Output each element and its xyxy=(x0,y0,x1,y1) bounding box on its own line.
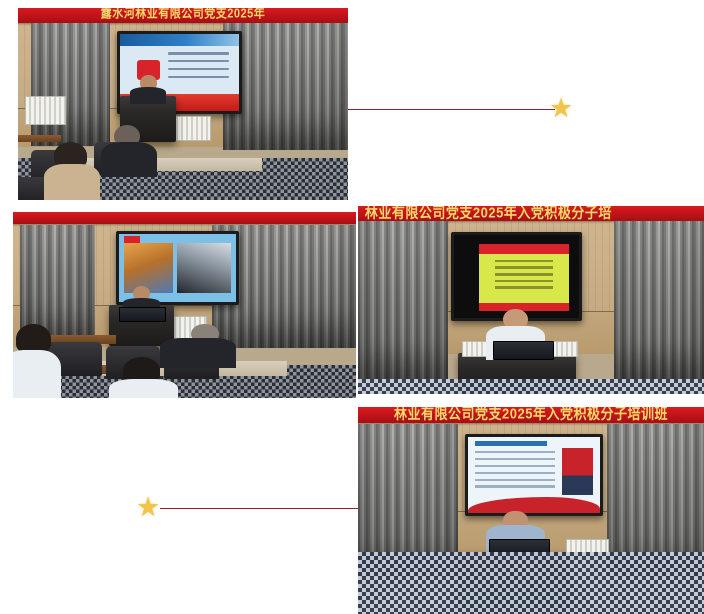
scene-middle-right: 林业有限公司党支2025年入党积极分子培 xyxy=(358,206,704,394)
attendee-3-body xyxy=(160,338,235,368)
slide-footer-bar xyxy=(479,303,569,312)
connector-line-top xyxy=(348,109,555,110)
event-banner-text: 露水河林业有限公司党支2025年 xyxy=(101,8,265,21)
photo-middle-left[interactable] xyxy=(13,212,356,398)
attendee-2-body xyxy=(109,379,178,398)
presenter-laptop xyxy=(493,341,554,360)
curtain-right xyxy=(614,221,704,379)
slide-title-bar xyxy=(475,441,547,446)
slide-text-lines xyxy=(168,52,230,89)
photo-middle-right[interactable]: 林业有限公司党支2025年入党积极分子培 xyxy=(358,206,704,394)
display-screen xyxy=(465,434,602,517)
radiator xyxy=(25,96,67,125)
slide-portrait-photo xyxy=(562,448,594,495)
curtain-left xyxy=(358,221,448,379)
connector-line-bottom xyxy=(160,508,358,509)
event-banner: 露水河林业有限公司党支2025年 xyxy=(18,8,348,23)
scene-top-left: 露水河林业有限公司党支2025年 xyxy=(18,8,348,200)
event-banner: 林业有限公司党支2025年入党积极分子培训班 xyxy=(358,407,704,423)
photo-top-left[interactable]: 露水河林业有限公司党支2025年 xyxy=(18,8,348,200)
audience-desk xyxy=(18,135,61,143)
event-banner-text: 林业有限公司党支2025年入党积极分子培训班 xyxy=(394,407,668,421)
floor-carpet xyxy=(358,552,704,614)
slide-text-lines xyxy=(495,260,552,297)
presentation-screen-bezel xyxy=(454,235,579,318)
slide-flag-image xyxy=(124,236,140,243)
scene-middle-left xyxy=(13,212,356,398)
curtain-left xyxy=(31,23,110,146)
photo-bottom-right[interactable]: 林业有限公司党支2025年入党积极分子培训班 xyxy=(358,407,704,614)
scene-bottom-right: 林业有限公司党支2025年入党积极分子培训班 xyxy=(358,407,704,614)
event-banner xyxy=(13,212,356,224)
attendee-1-body xyxy=(44,164,100,200)
photo-collage: 露水河林业有限公司党支2025年 xyxy=(0,0,704,614)
slide-header-bar xyxy=(120,34,239,46)
slide-header-bar xyxy=(479,244,569,254)
slide-machinery-photo xyxy=(177,243,231,293)
slide-text-lines xyxy=(475,451,555,494)
event-banner-text: 林业有限公司党支2025年入党积极分子培 xyxy=(365,206,612,220)
slide-group-photo xyxy=(124,243,173,293)
attendee-2-body xyxy=(101,142,157,177)
attendee-1-body xyxy=(13,350,61,398)
speaker-laptop xyxy=(119,307,166,322)
display-screen xyxy=(451,232,582,321)
star-icon-top-right: ★ xyxy=(549,95,573,122)
slide-wave-decoration xyxy=(468,497,599,514)
star-icon-bottom-left: ★ xyxy=(136,494,160,521)
floor-carpet xyxy=(358,379,704,394)
presentation-slide xyxy=(479,244,569,312)
attendee-1-head xyxy=(16,324,50,354)
presentation-slide xyxy=(468,437,599,514)
event-banner: 林业有限公司党支2025年入党积极分子培 xyxy=(358,206,704,221)
speaker-body xyxy=(130,87,166,104)
